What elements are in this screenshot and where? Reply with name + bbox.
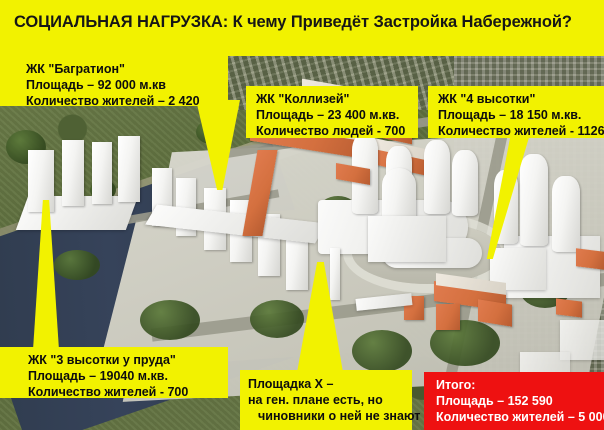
callout-4-vysotki-name: ЖК "4 высотки" [438,91,595,107]
callout-kollizey-name: ЖК "Коллизей" [256,91,409,107]
callout-bagration-residents: Количество жителей – 2 420 [26,93,219,109]
building-tower [552,176,580,252]
callout-bagration: ЖК "Багратион" Площадь – 92 000 м.кв Кол… [0,56,228,106]
tree-clump [250,300,304,338]
title-band: СОЦИАЛЬНАЯ НАГРУЗКА: К чему Приведёт Зас… [0,0,604,56]
callout-kollizey: ЖК "Коллизей" Площадь – 23 400 м.кв. Кол… [246,86,418,138]
building-brick [436,304,460,330]
callout-pond-name: ЖК "3 высотки у пруда" [28,352,219,368]
building-brick [556,298,582,317]
building-slab [330,248,340,300]
callout-ploshadka-line1: Площадка Х – [248,376,403,392]
building-tower [28,150,54,212]
building-tower [92,142,112,204]
tree-clump [54,250,100,280]
callout-ploshadka-line3: чиновники о ней не знают [248,408,403,424]
total-area: Площадь – 152 590 [436,393,604,409]
callout-ploshadka-x: Площадка Х – на ген. плане есть, но чино… [240,370,412,430]
building-curved [382,168,416,216]
callout-4-vysotki: ЖК "4 высотки" Площадь – 18 150 м.кв. Ко… [428,86,604,138]
building-tower [424,140,450,214]
page-title: СОЦИАЛЬНАЯ НАГРУЗКА: К чему Приведёт Зас… [14,13,572,32]
callout-kollizey-residents: Количество людей - 700 [256,123,409,139]
tree-clump [140,300,200,340]
callout-3-vysotki-u-pruda: ЖК "3 высотки у пруда" Площадь – 19040 м… [0,347,228,398]
building-podium [368,216,446,262]
callout-4-vysotki-area: Площадь – 18 150 м.кв. [438,107,595,123]
callout-pond-area: Площадь – 19040 м.кв. [28,368,219,384]
poster-root: СОЦИАЛЬНАЯ НАГРУЗКА: К чему Приведёт Зас… [0,0,604,430]
total-residents: Количество жителей – 5 000 [436,409,604,425]
callout-bagration-name: ЖК "Багратион" [26,61,219,77]
building-tower [62,140,84,206]
callout-ploshadka-line2: на ген. плане есть, но [248,392,403,408]
total-summary-box: Итого: Площадь – 152 590 Количество жите… [424,372,604,430]
callout-pond-residents: Количество жителей - 700 [28,384,219,400]
building-tower [520,154,548,246]
building-tower [452,150,478,216]
callout-kollizey-area: Площадь – 23 400 м.кв. [256,107,409,123]
callout-4-vysotki-residents: Количество жителей - 1126 [438,123,595,139]
total-label: Итого: [436,377,604,393]
tree-clump [352,330,412,372]
building-tower [118,136,140,202]
callout-bagration-area: Площадь – 92 000 м.кв [26,77,219,93]
building-brick [576,248,604,269]
